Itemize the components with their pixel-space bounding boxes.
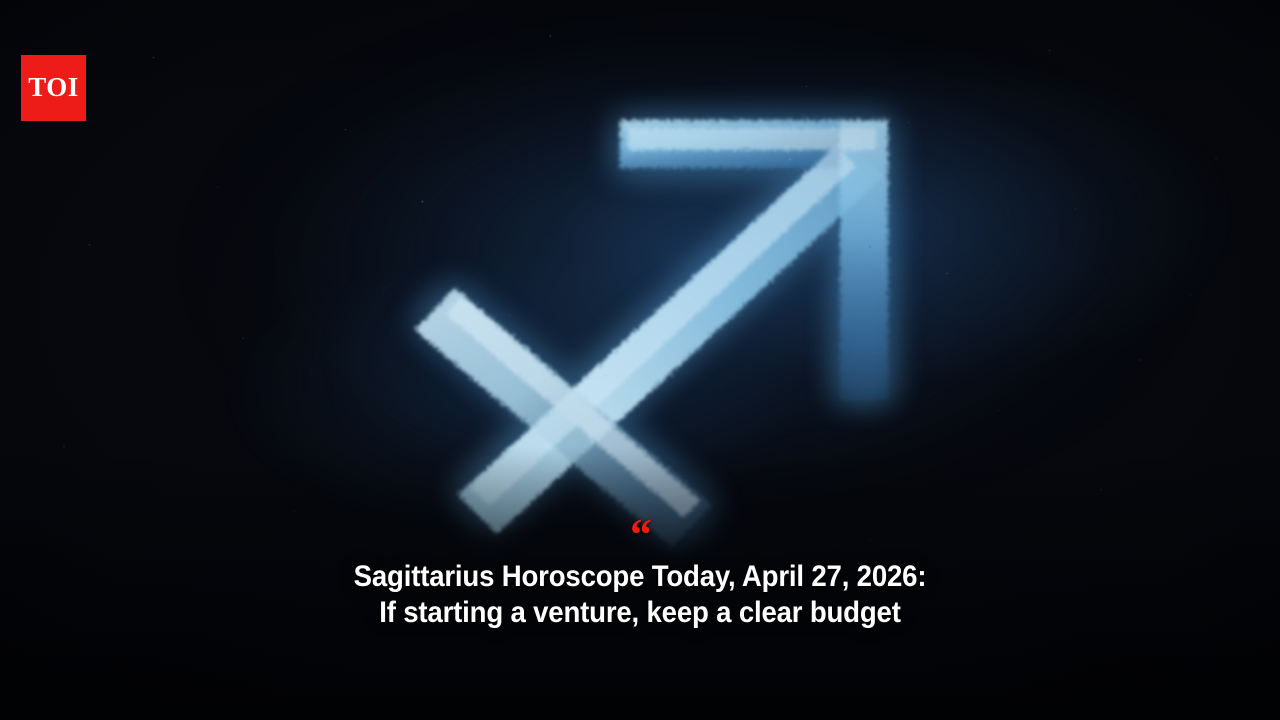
headline-line-1: Sagittarius Horoscope Today, April 27, 2… <box>106 559 1173 596</box>
toi-logo[interactable]: TOI <box>21 55 86 121</box>
caption-block: “ Sagittarius Horoscope Today, April 27,… <box>0 523 1280 632</box>
toi-logo-text: TOI <box>28 74 79 101</box>
headline-line-2: If starting a venture, keep a clear budg… <box>106 595 1173 632</box>
video-frame: TOI “ Sagittarius Horoscope Today, April… <box>0 0 1280 720</box>
quote-mark-icon: “ <box>60 523 1220 547</box>
headline: Sagittarius Horoscope Today, April 27, 2… <box>106 559 1173 632</box>
